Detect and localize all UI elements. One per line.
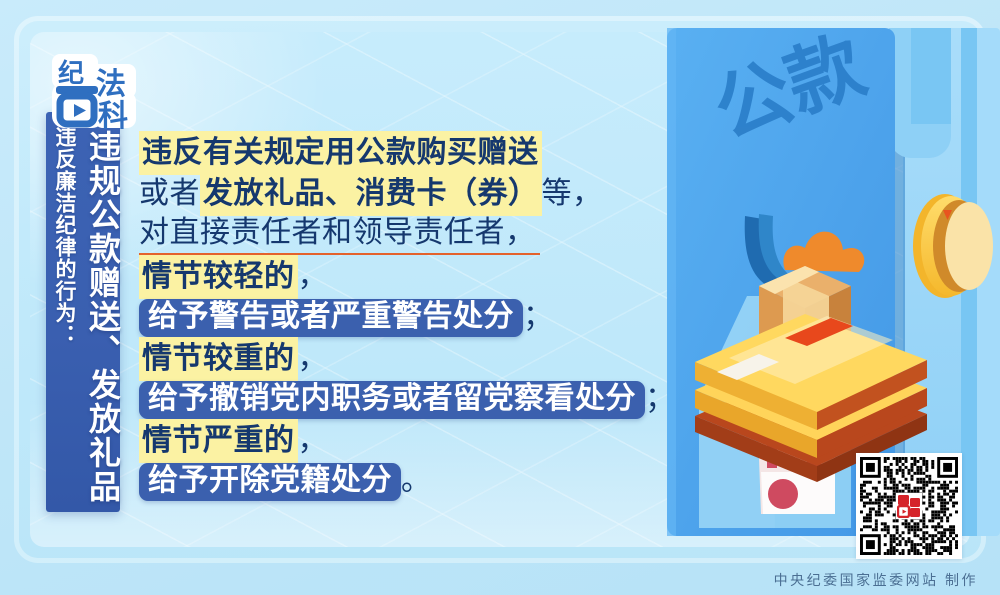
plain-phrase: ， [298,256,329,297]
logo-char-ke: 科 [98,100,128,130]
text-line: 情节较重的， [139,337,676,378]
text-line: 给予撤销党内职务或者留党察看处分； [139,378,676,419]
sanction-pill: 给予撤销党内职务或者留党察看处分 [139,381,645,419]
plain-phrase: ， [298,338,329,379]
plain-phrase: 对直接责任者和领导责任者， [139,213,536,253]
logo-char-ji: 纪 [58,58,84,88]
sanction-pill: 给予警告或者严重警告处分 [139,299,523,337]
text-line: 情节较轻的， [139,255,676,296]
highlighted-phrase: 情节较轻的 [139,255,298,299]
banner-subtitle: 违反廉洁纪律的行为： [50,126,80,346]
text-line: 对直接责任者和领导责任者， [139,213,540,255]
sanction-pill: 给予开除党籍处分 [139,463,401,501]
plain-phrase: 等， [542,173,603,214]
plain-phrase: 。 [401,460,432,501]
plain-phrase: ； [645,378,676,419]
plain-phrase: 或者 [139,173,200,214]
text-line: 给予警告或者严重警告处分； [139,296,676,337]
text-line: 违反有关规定用公款购买赠送 [139,131,676,172]
text-line: 情节严重的， [139,419,676,460]
plain-phrase: ， [298,420,329,461]
footer-credit: 中央纪委国家监委网站 制作 [774,570,978,590]
text-line: 给予开除党籍处分。 [139,460,676,501]
plain-phrase: ； [523,296,554,337]
brand-logo[interactable]: 纪 法 科 [50,52,138,130]
highlighted-phrase: 情节严重的 [139,419,298,463]
qr-center-logo [896,493,922,519]
text-line: 或者发放礼品、消费卡（券）等， [139,172,676,213]
vault-dial-icon [913,194,993,298]
regulation-text-block: 违反有关规定用公款购买赠送或者发放礼品、消费卡（券）等，对直接责任者和领导责任者… [139,131,676,501]
highlighted-phrase: 违反有关规定用公款购买赠送 [139,131,542,175]
poster-canvas: 公款 [0,0,1000,595]
highlighted-phrase: 情节较重的 [139,337,298,381]
highlighted-phrase: 发放礼品、消费卡（券） [200,172,542,216]
banner-title: 违规公款赠送、发放礼品 [80,130,126,504]
logo-char-fa: 法 [96,68,126,101]
qr-code[interactable] [856,453,962,559]
